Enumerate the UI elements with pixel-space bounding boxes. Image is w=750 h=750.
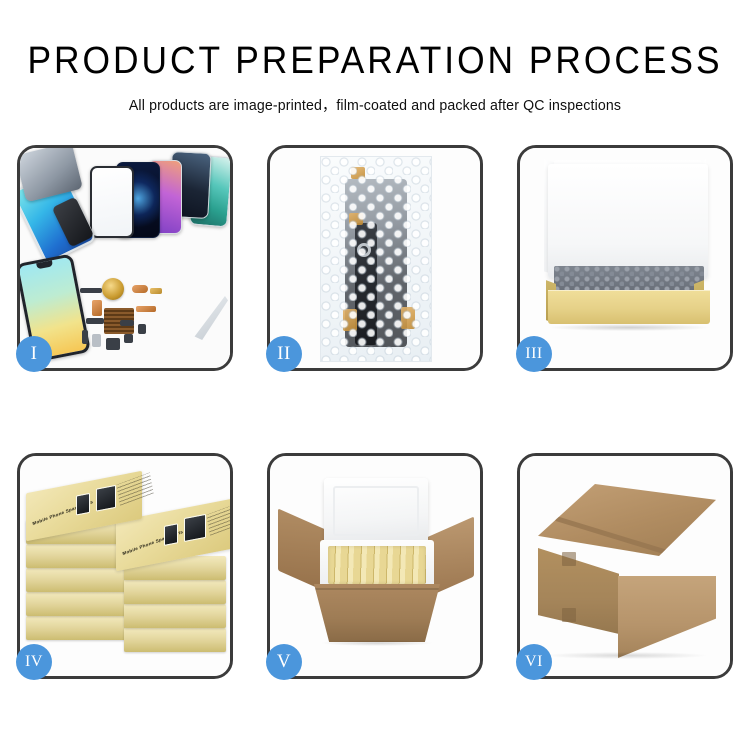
small-part — [120, 320, 134, 326]
drop-shadow — [546, 652, 706, 659]
step-badge-1: I — [16, 336, 52, 372]
box-window-thumb — [96, 485, 116, 512]
yellow-boxes-inside — [328, 546, 426, 584]
stacked-box — [124, 580, 226, 604]
carton-left-face — [538, 548, 619, 634]
foam-cooler-lid — [324, 478, 428, 546]
step-image-4: Mobile Phone Spare Parts Mobile Phone Sp… — [20, 456, 230, 676]
small-part — [124, 334, 133, 343]
small-part — [86, 318, 104, 324]
step-image-1 — [20, 148, 230, 368]
carton-right-face — [618, 576, 716, 658]
stacked-box — [26, 592, 132, 616]
carton-body — [314, 584, 440, 642]
step-panel-6: VI — [517, 453, 733, 679]
small-part — [106, 338, 120, 350]
step-badge-2: II — [266, 336, 302, 372]
product-preparation-infographic: PRODUCT PREPARATION PROCESS All products… — [0, 0, 750, 750]
stacked-box — [26, 568, 132, 592]
step-badge-6: VI — [516, 644, 552, 680]
box-window-thumb — [184, 514, 206, 542]
header: PRODUCT PREPARATION PROCESS All products… — [0, 0, 750, 115]
step-image-5 — [270, 456, 480, 676]
step-panel-3: III — [517, 145, 733, 371]
box-window-thumb — [164, 523, 178, 546]
box-stack: Mobile Phone Spare Parts Mobile Phone Sp… — [20, 456, 230, 676]
process-steps-grid: I II — [17, 145, 733, 679]
small-part — [92, 300, 102, 316]
carton-tab — [562, 608, 576, 622]
small-part — [92, 334, 101, 347]
bubble-texture — [321, 157, 431, 361]
small-part — [132, 285, 148, 293]
carton-seal-tape — [538, 484, 716, 556]
step-image-3 — [520, 148, 730, 368]
step-image-6 — [520, 456, 730, 676]
stacked-box — [124, 604, 226, 628]
phone-glass-panel — [90, 166, 134, 238]
white-foam-sheet — [548, 164, 708, 278]
box-spec-lines — [116, 472, 153, 505]
step-panel-1: I — [17, 145, 233, 371]
step-panel-5: V — [267, 453, 483, 679]
small-part — [82, 330, 88, 344]
step-badge-3: III — [516, 336, 552, 372]
small-part — [80, 288, 102, 293]
box-spec-lines — [206, 502, 230, 535]
carton-tab — [562, 552, 576, 566]
bubble-wrap-bag — [320, 156, 432, 362]
step-panel-2: II — [267, 145, 483, 371]
small-part — [136, 306, 156, 312]
drop-shadow — [550, 324, 708, 331]
stacked-box — [26, 616, 132, 640]
box-window-thumb — [76, 493, 90, 516]
step-image-2 — [270, 148, 480, 368]
yellow-box-front — [548, 290, 710, 324]
drop-shadow — [322, 640, 432, 646]
small-part — [150, 288, 162, 294]
page-title: PRODUCT PREPARATION PROCESS — [26, 42, 724, 80]
step-badge-5: V — [266, 644, 302, 680]
small-part — [138, 324, 146, 334]
speaker-coil-part — [102, 278, 124, 300]
stacked-box — [124, 628, 226, 652]
step-badge-4: IV — [16, 644, 52, 680]
page-subtitle: All products are image-printed，film-coat… — [11, 94, 739, 115]
step-panel-4: Mobile Phone Spare Parts Mobile Phone Sp… — [17, 453, 233, 679]
